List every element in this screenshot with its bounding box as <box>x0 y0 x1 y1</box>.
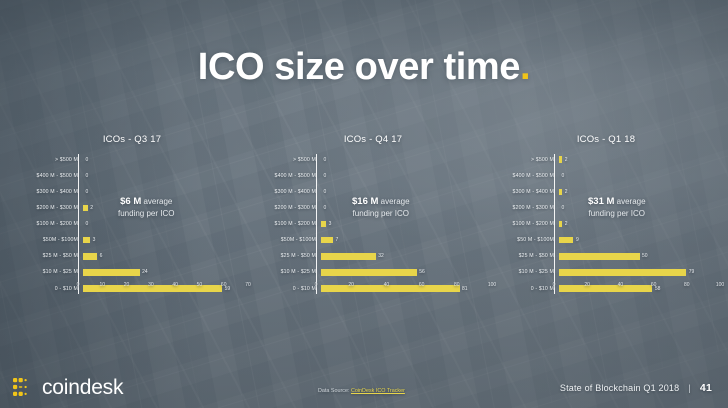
bar-category-label: > $500 M <box>16 157 83 163</box>
chart-title: ICOs - Q1 18 <box>492 134 720 145</box>
x-axis-tick-label: 40 <box>384 282 390 288</box>
bar-track: 0 <box>83 219 248 230</box>
bar-track: 6 <box>83 251 248 262</box>
footer-separator: | <box>688 383 691 393</box>
bar-value-label: 2 <box>565 221 568 227</box>
bar-category-label: 0 - $10 M <box>254 286 321 292</box>
bar-rows: > $500 M2$400 M - $500 M0$300 M - $400 M… <box>492 154 720 294</box>
annotation-average-q1: $31 M average funding per ICO <box>588 196 646 220</box>
x-axis-tick-label: 30 <box>148 282 154 288</box>
bar-track: 32 <box>321 251 492 262</box>
bar-category-label: $300 M - $400 M <box>16 189 83 195</box>
bar-track: 79 <box>559 267 720 278</box>
bar-category-label: $10 M - $25 M <box>16 269 83 275</box>
bar-track: 0 <box>321 154 492 165</box>
bar-category-label: $300 M - $400 M <box>254 189 321 195</box>
bar-rows: > $500 M0$400 M - $500 M0$300 M - $400 M… <box>16 154 248 294</box>
bar-row: > $500 M0 <box>254 154 492 165</box>
bar <box>321 253 376 260</box>
x-axis: 020406080100 <box>554 280 720 294</box>
bar-category-label: $25 M - $50 M <box>254 253 321 259</box>
bar-category-label: $10 M - $25 M <box>492 269 559 275</box>
page-title: ICO size over time. <box>0 48 728 86</box>
bar-track: 2 <box>559 219 720 230</box>
coindesk-logo[interactable]: coindesk <box>12 376 123 398</box>
bar-category-label: $50M - $100M <box>16 237 83 243</box>
y-axis-line <box>554 154 555 294</box>
x-axis: 010203040506070 <box>78 280 248 294</box>
coindesk-logo-text: coindesk <box>42 377 123 398</box>
bar-row: $25 M - $50 M50 <box>492 251 720 262</box>
bar <box>83 269 140 276</box>
x-axis-tick-label: 0 <box>77 282 80 288</box>
bar-value-label: 6 <box>100 253 103 259</box>
bar-row: $10 M - $25 M79 <box>492 267 720 278</box>
bar <box>559 237 573 244</box>
bar-category-label: $300 M - $400 M <box>492 189 559 195</box>
bar-value-label: 7 <box>335 237 338 243</box>
bar-value-label: 0 <box>562 173 565 179</box>
data-source-link[interactable]: CoinDesk ICO Tracker <box>351 388 405 394</box>
bar <box>559 221 562 228</box>
bar-category-label: $50M - $100M <box>254 237 321 243</box>
x-axis-tick-label: 20 <box>124 282 130 288</box>
annotation-amount: $6 M <box>120 196 141 207</box>
bar-row: $50 M - $100M9 <box>492 235 720 246</box>
bar-value-label: 50 <box>642 253 648 259</box>
bar-row: $100 M - $200 M0 <box>16 219 248 230</box>
bar-category-label: $25 M - $50 M <box>16 253 83 259</box>
bar-category-label: > $500 M <box>254 157 321 163</box>
bar-value-label: 0 <box>86 173 89 179</box>
x-axis-tick-label: 60 <box>221 282 227 288</box>
bar-value-label: 0 <box>562 205 565 211</box>
bar-value-label: 3 <box>329 221 332 227</box>
bar-row: $25 M - $50 M6 <box>16 251 248 262</box>
bar-value-label: 32 <box>378 253 384 259</box>
bar-category-label: $400 M - $500 M <box>16 173 83 179</box>
charts-row: ICOs - Q3 17 > $500 M0$400 M - $500 M0$3… <box>0 132 728 310</box>
bar-row: $400 M - $500 M0 <box>492 170 720 181</box>
annotation-line1-rest: average <box>141 197 172 206</box>
plot-area: > $500 M0$400 M - $500 M0$300 M - $400 M… <box>16 154 248 294</box>
x-axis-tick-label: 60 <box>651 282 657 288</box>
bar-row: $400 M - $500 M0 <box>254 170 492 181</box>
bar-track: 56 <box>321 267 492 278</box>
bar-category-label: $400 M - $500 M <box>492 173 559 179</box>
y-axis-line <box>316 154 317 294</box>
bar-row: > $500 M0 <box>16 154 248 165</box>
x-axis-tick-label: 40 <box>618 282 624 288</box>
bar-row: $10 M - $25 M24 <box>16 267 248 278</box>
annotation-amount: $16 M <box>352 196 378 207</box>
bar <box>559 253 640 260</box>
bar-track: 9 <box>559 235 720 246</box>
bar-value-label: 24 <box>142 269 148 275</box>
bar-track: 2 <box>559 154 720 165</box>
bar-value-label: 79 <box>689 269 695 275</box>
bar-row: $50M - $100M7 <box>254 235 492 246</box>
bar-row: $100 M - $200 M3 <box>254 219 492 230</box>
bar-value-label: 56 <box>419 269 425 275</box>
bar <box>321 237 333 244</box>
bar-track: 0 <box>83 154 248 165</box>
bar-track: 50 <box>559 251 720 262</box>
bar <box>321 269 417 276</box>
x-axis: 020406080100 <box>316 280 492 294</box>
bar-category-label: $100 M - $200 M <box>492 221 559 227</box>
footer-right: State of Blockchain Q1 2018 | 41 <box>560 382 712 394</box>
x-axis-tick-label: 0 <box>553 282 556 288</box>
bar-rows: > $500 M0$400 M - $500 M0$300 M - $400 M… <box>254 154 492 294</box>
annotation-line2: funding per ICO <box>352 209 410 220</box>
annotation-line1-rest: average <box>614 197 645 206</box>
deck-title: State of Blockchain Q1 2018 <box>560 383 679 393</box>
bar-category-label: $200 M - $300 M <box>492 205 559 211</box>
bar-category-label: $100 M - $200 M <box>254 221 321 227</box>
bar-row: $100 M - $200 M2 <box>492 219 720 230</box>
plot-area: > $500 M2$400 M - $500 M0$300 M - $400 M… <box>492 154 720 294</box>
y-axis-line <box>78 154 79 294</box>
bar-value-label: 0 <box>324 173 327 179</box>
bar-track: 24 <box>83 267 248 278</box>
bar-category-label: > $500 M <box>492 157 559 163</box>
bar-row: > $500 M2 <box>492 154 720 165</box>
bar-category-label: $400 M - $500 M <box>254 173 321 179</box>
annotation-average-q3: $6 M average funding per ICO <box>118 196 174 220</box>
bar-value-label: 2 <box>90 205 93 211</box>
data-source-prefix: Data Source: <box>318 388 351 394</box>
bar-category-label: $100 M - $200 M <box>16 221 83 227</box>
page-number: 41 <box>700 382 712 394</box>
bar-value-label: 2 <box>565 157 568 163</box>
x-axis-tick-label: 80 <box>684 282 690 288</box>
annotation-line1-rest: average <box>378 197 409 206</box>
annotation-line2: funding per ICO <box>588 209 646 220</box>
chart-q4-17: ICOs - Q4 17 > $500 M0$400 M - $500 M0$3… <box>254 132 492 310</box>
annotation-average-q4: $16 M average funding per ICO <box>352 196 410 220</box>
bar-category-label: $10 M - $25 M <box>254 269 321 275</box>
bar <box>321 221 326 228</box>
x-axis-tick-label: 60 <box>419 282 425 288</box>
x-axis-tick-label: 50 <box>197 282 203 288</box>
bar-value-label: 0 <box>86 189 89 195</box>
page-title-text: ICO size over time <box>198 46 520 88</box>
bar-value-label: 0 <box>86 157 89 163</box>
x-axis-tick-label: 40 <box>172 282 178 288</box>
chart-q1-18: ICOs - Q1 18 > $500 M2$400 M - $500 M0$3… <box>492 132 720 310</box>
bar-track: 3 <box>321 219 492 230</box>
bar-row: $400 M - $500 M0 <box>16 170 248 181</box>
bar-category-label: $50 M - $100M <box>492 237 559 243</box>
x-axis-tick-label: 0 <box>315 282 318 288</box>
bar-track: 7 <box>321 235 492 246</box>
bar-row: $10 M - $25 M56 <box>254 267 492 278</box>
bar-track: 3 <box>83 235 248 246</box>
page-title-accent-dot: . <box>520 46 530 88</box>
bar-value-label: 0 <box>324 205 327 211</box>
annotation-line2: funding per ICO <box>118 209 174 220</box>
x-axis-tick-label: 100 <box>716 282 724 288</box>
slide: ICO size over time. ICOs - Q3 17 > $500 … <box>0 0 728 408</box>
annotation-amount: $31 M <box>588 196 614 207</box>
bar <box>83 205 88 212</box>
bar <box>559 156 562 163</box>
chart-title: ICOs - Q3 17 <box>16 134 248 145</box>
bar-track: 0 <box>559 170 720 181</box>
bar-value-label: 0 <box>324 157 327 163</box>
bar <box>83 253 97 260</box>
bar-row: $25 M - $50 M32 <box>254 251 492 262</box>
data-source-note: Data Source: CoinDesk ICO Tracker <box>318 388 405 394</box>
x-axis-tick-label: 10 <box>100 282 106 288</box>
bar-category-label: $200 M - $300 M <box>16 205 83 211</box>
bar-category-label: $200 M - $300 M <box>254 205 321 211</box>
bar-category-label: $25 M - $50 M <box>492 253 559 259</box>
chart-title: ICOs - Q4 17 <box>254 134 492 145</box>
coindesk-mark-icon <box>12 376 34 398</box>
bar-value-label: 2 <box>565 189 568 195</box>
x-axis-tick-label: 70 <box>245 282 251 288</box>
bar-category-label: 0 - $10 M <box>492 286 559 292</box>
bar-value-label: 9 <box>576 237 579 243</box>
x-axis-tick-label: 20 <box>348 282 354 288</box>
bar-track: 0 <box>321 170 492 181</box>
x-axis-tick-label: 20 <box>584 282 590 288</box>
bar-value-label: 3 <box>93 237 96 243</box>
bar <box>83 237 90 244</box>
bar-row: $50M - $100M3 <box>16 235 248 246</box>
x-axis-tick-label: 80 <box>454 282 460 288</box>
footer: coindesk Data Source: CoinDesk ICO Track… <box>0 364 728 408</box>
bar <box>559 269 686 276</box>
bar-track: 0 <box>83 170 248 181</box>
bar <box>559 189 562 196</box>
bar-value-label: 0 <box>324 189 327 195</box>
chart-q3-17: ICOs - Q3 17 > $500 M0$400 M - $500 M0$3… <box>16 132 248 310</box>
bar-value-label: 0 <box>86 221 89 227</box>
bar-category-label: 0 - $10 M <box>16 286 83 292</box>
plot-area: > $500 M0$400 M - $500 M0$300 M - $400 M… <box>254 154 492 294</box>
